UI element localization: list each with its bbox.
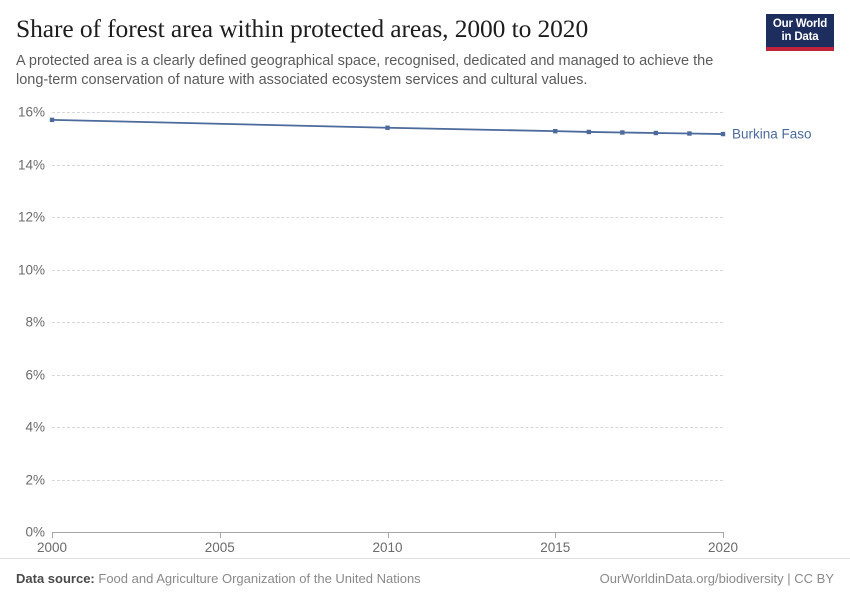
y-axis-tick-label: 10% bbox=[18, 262, 45, 277]
x-axis-tick-label: 2005 bbox=[205, 540, 235, 555]
plot-area: 0%2%4%6%8%10%12%14%16%200020052010201520… bbox=[52, 112, 723, 532]
x-axis-tick bbox=[555, 532, 556, 538]
y-axis-tick-label: 6% bbox=[25, 367, 45, 382]
x-axis-tick-label: 2000 bbox=[37, 540, 67, 555]
data-source: Data source: Food and Agriculture Organi… bbox=[16, 571, 421, 586]
data-point-marker[interactable] bbox=[687, 131, 691, 135]
chart-page: Share of forest area within protected ar… bbox=[0, 0, 850, 600]
data-point-marker[interactable] bbox=[385, 126, 389, 130]
y-axis-tick-label: 4% bbox=[25, 420, 45, 435]
line-chart: 0%2%4%6%8%10%12%14%16%200020052010201520… bbox=[0, 95, 850, 555]
y-axis-tick-label: 2% bbox=[25, 472, 45, 487]
data-point-marker[interactable] bbox=[587, 130, 591, 134]
y-axis-tick-label: 12% bbox=[18, 210, 45, 225]
logo-line-2: in Data bbox=[782, 31, 819, 44]
x-axis-tick-label: 2010 bbox=[372, 540, 402, 555]
page-subtitle: A protected area is a clearly defined ge… bbox=[16, 52, 731, 90]
gridline-12% bbox=[52, 217, 723, 218]
attribution-link[interactable]: OurWorldinData.org/biodiversity | CC BY bbox=[600, 571, 834, 586]
gridline-10% bbox=[52, 270, 723, 271]
x-axis-tick bbox=[388, 532, 389, 538]
x-axis-tick bbox=[220, 532, 221, 538]
x-axis-tick-label: 2020 bbox=[708, 540, 738, 555]
gridline-16% bbox=[52, 112, 723, 113]
data-point-marker[interactable] bbox=[721, 132, 725, 136]
y-axis-tick-label: 8% bbox=[25, 315, 45, 330]
data-point-marker[interactable] bbox=[553, 129, 557, 133]
logo-line-1: Our World bbox=[773, 18, 827, 31]
gridline-6% bbox=[52, 375, 723, 376]
gridline-2% bbox=[52, 480, 723, 481]
y-axis-tick-label: 0% bbox=[25, 525, 45, 540]
data-source-value: Food and Agriculture Organization of the… bbox=[98, 571, 420, 586]
x-axis-tick bbox=[52, 532, 53, 538]
gridline-8% bbox=[52, 322, 723, 323]
x-axis-tick-label: 2015 bbox=[540, 540, 570, 555]
our-world-in-data-logo[interactable]: Our World in Data bbox=[766, 14, 834, 51]
gridline-14% bbox=[52, 165, 723, 166]
y-axis-tick-label: 14% bbox=[18, 157, 45, 172]
series-label-burkina-faso[interactable]: Burkina Faso bbox=[732, 127, 812, 142]
page-title: Share of forest area within protected ar… bbox=[16, 14, 756, 44]
chart-header: Share of forest area within protected ar… bbox=[0, 0, 850, 90]
gridline-4% bbox=[52, 427, 723, 428]
chart-footer: Data source: Food and Agriculture Organi… bbox=[0, 558, 850, 600]
data-point-marker[interactable] bbox=[654, 131, 658, 135]
data-point-marker[interactable] bbox=[620, 130, 624, 134]
data-source-label: Data source: bbox=[16, 571, 95, 586]
y-axis-tick-label: 16% bbox=[18, 105, 45, 120]
x-axis-tick bbox=[723, 532, 724, 538]
data-point-marker[interactable] bbox=[50, 118, 54, 122]
